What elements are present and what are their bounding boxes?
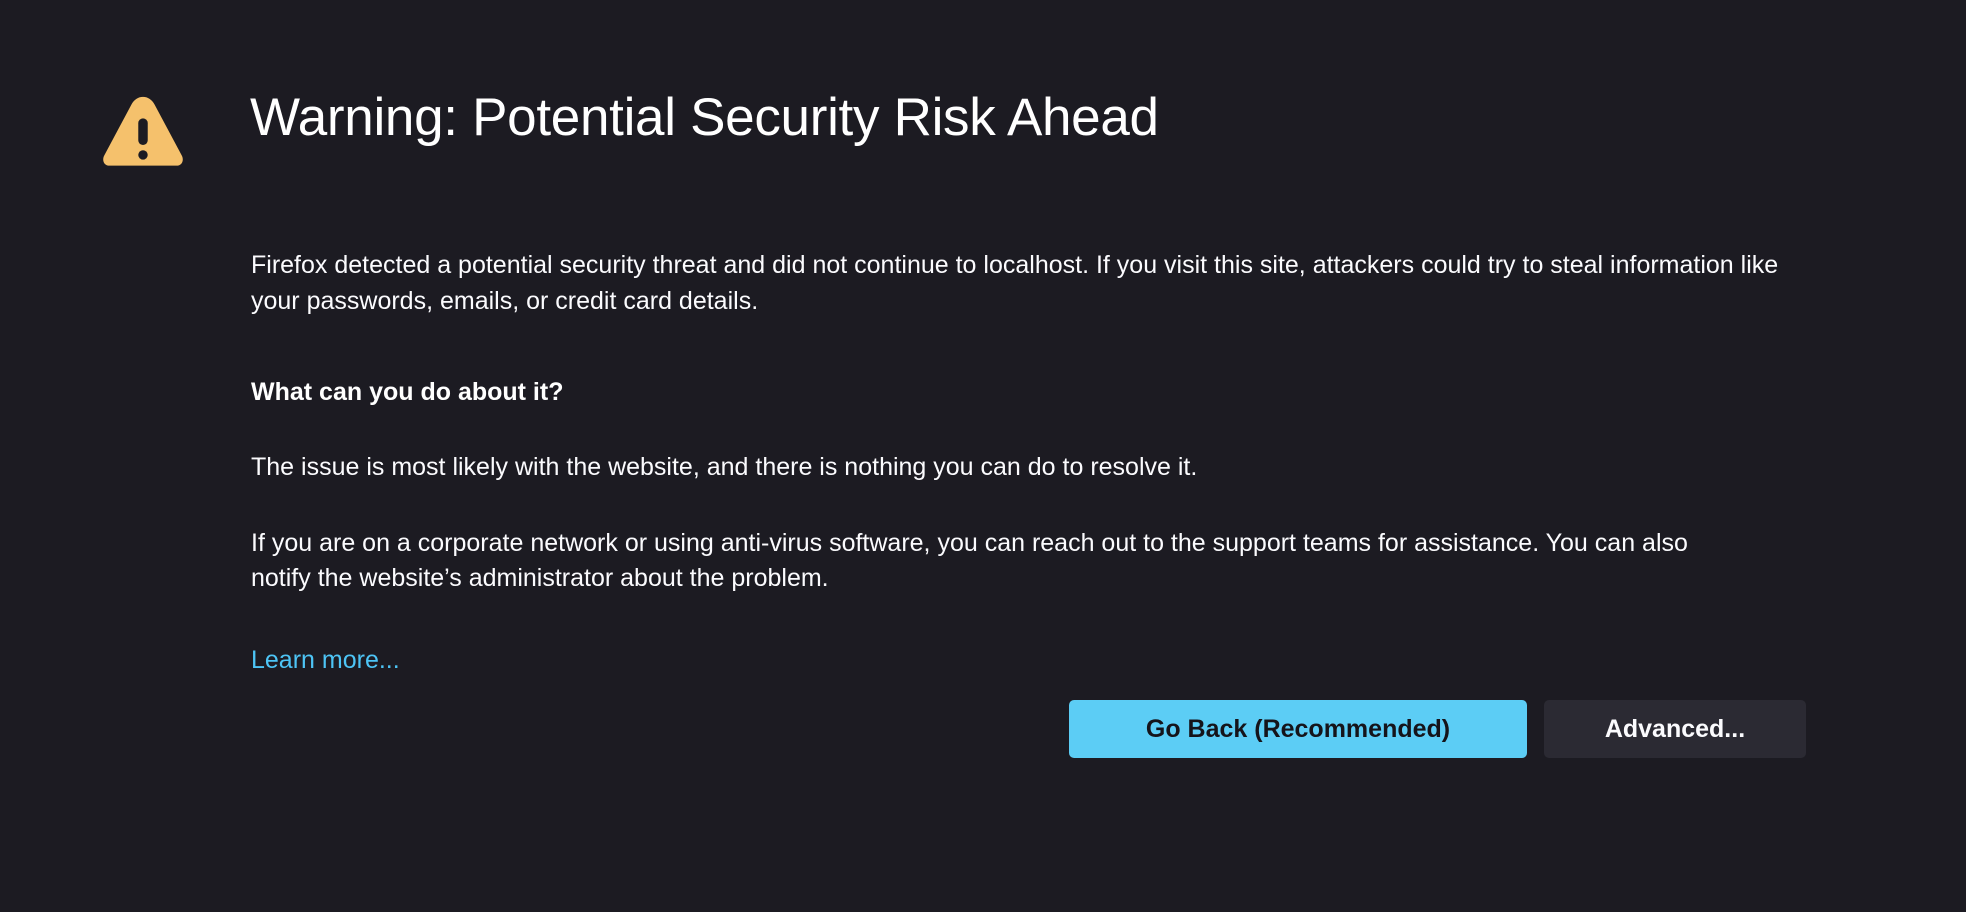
go-back-button[interactable]: Go Back (Recommended) [1069,700,1527,758]
what-can-you-do-heading: What can you do about it? [251,319,1811,410]
learn-more-link[interactable]: Learn more... [251,643,400,678]
page-title: Warning: Potential Security Risk Ahead [250,88,1159,147]
corporate-network-paragraph: If you are on a corporate network or usi… [251,486,1706,597]
warning-triangle-icon [100,90,186,176]
page-header: Warning: Potential Security Risk Ahead [100,88,1159,176]
error-body: Firefox detected a potential security th… [251,248,1811,678]
advanced-button[interactable]: Advanced... [1544,700,1806,758]
button-row: Go Back (Recommended) Advanced... [0,700,1806,758]
error-page: Warning: Potential Security Risk Ahead F… [0,0,1966,912]
website-issue-paragraph: The issue is most likely with the websit… [251,410,1796,486]
intro-paragraph: Firefox detected a potential security th… [251,248,1796,319]
